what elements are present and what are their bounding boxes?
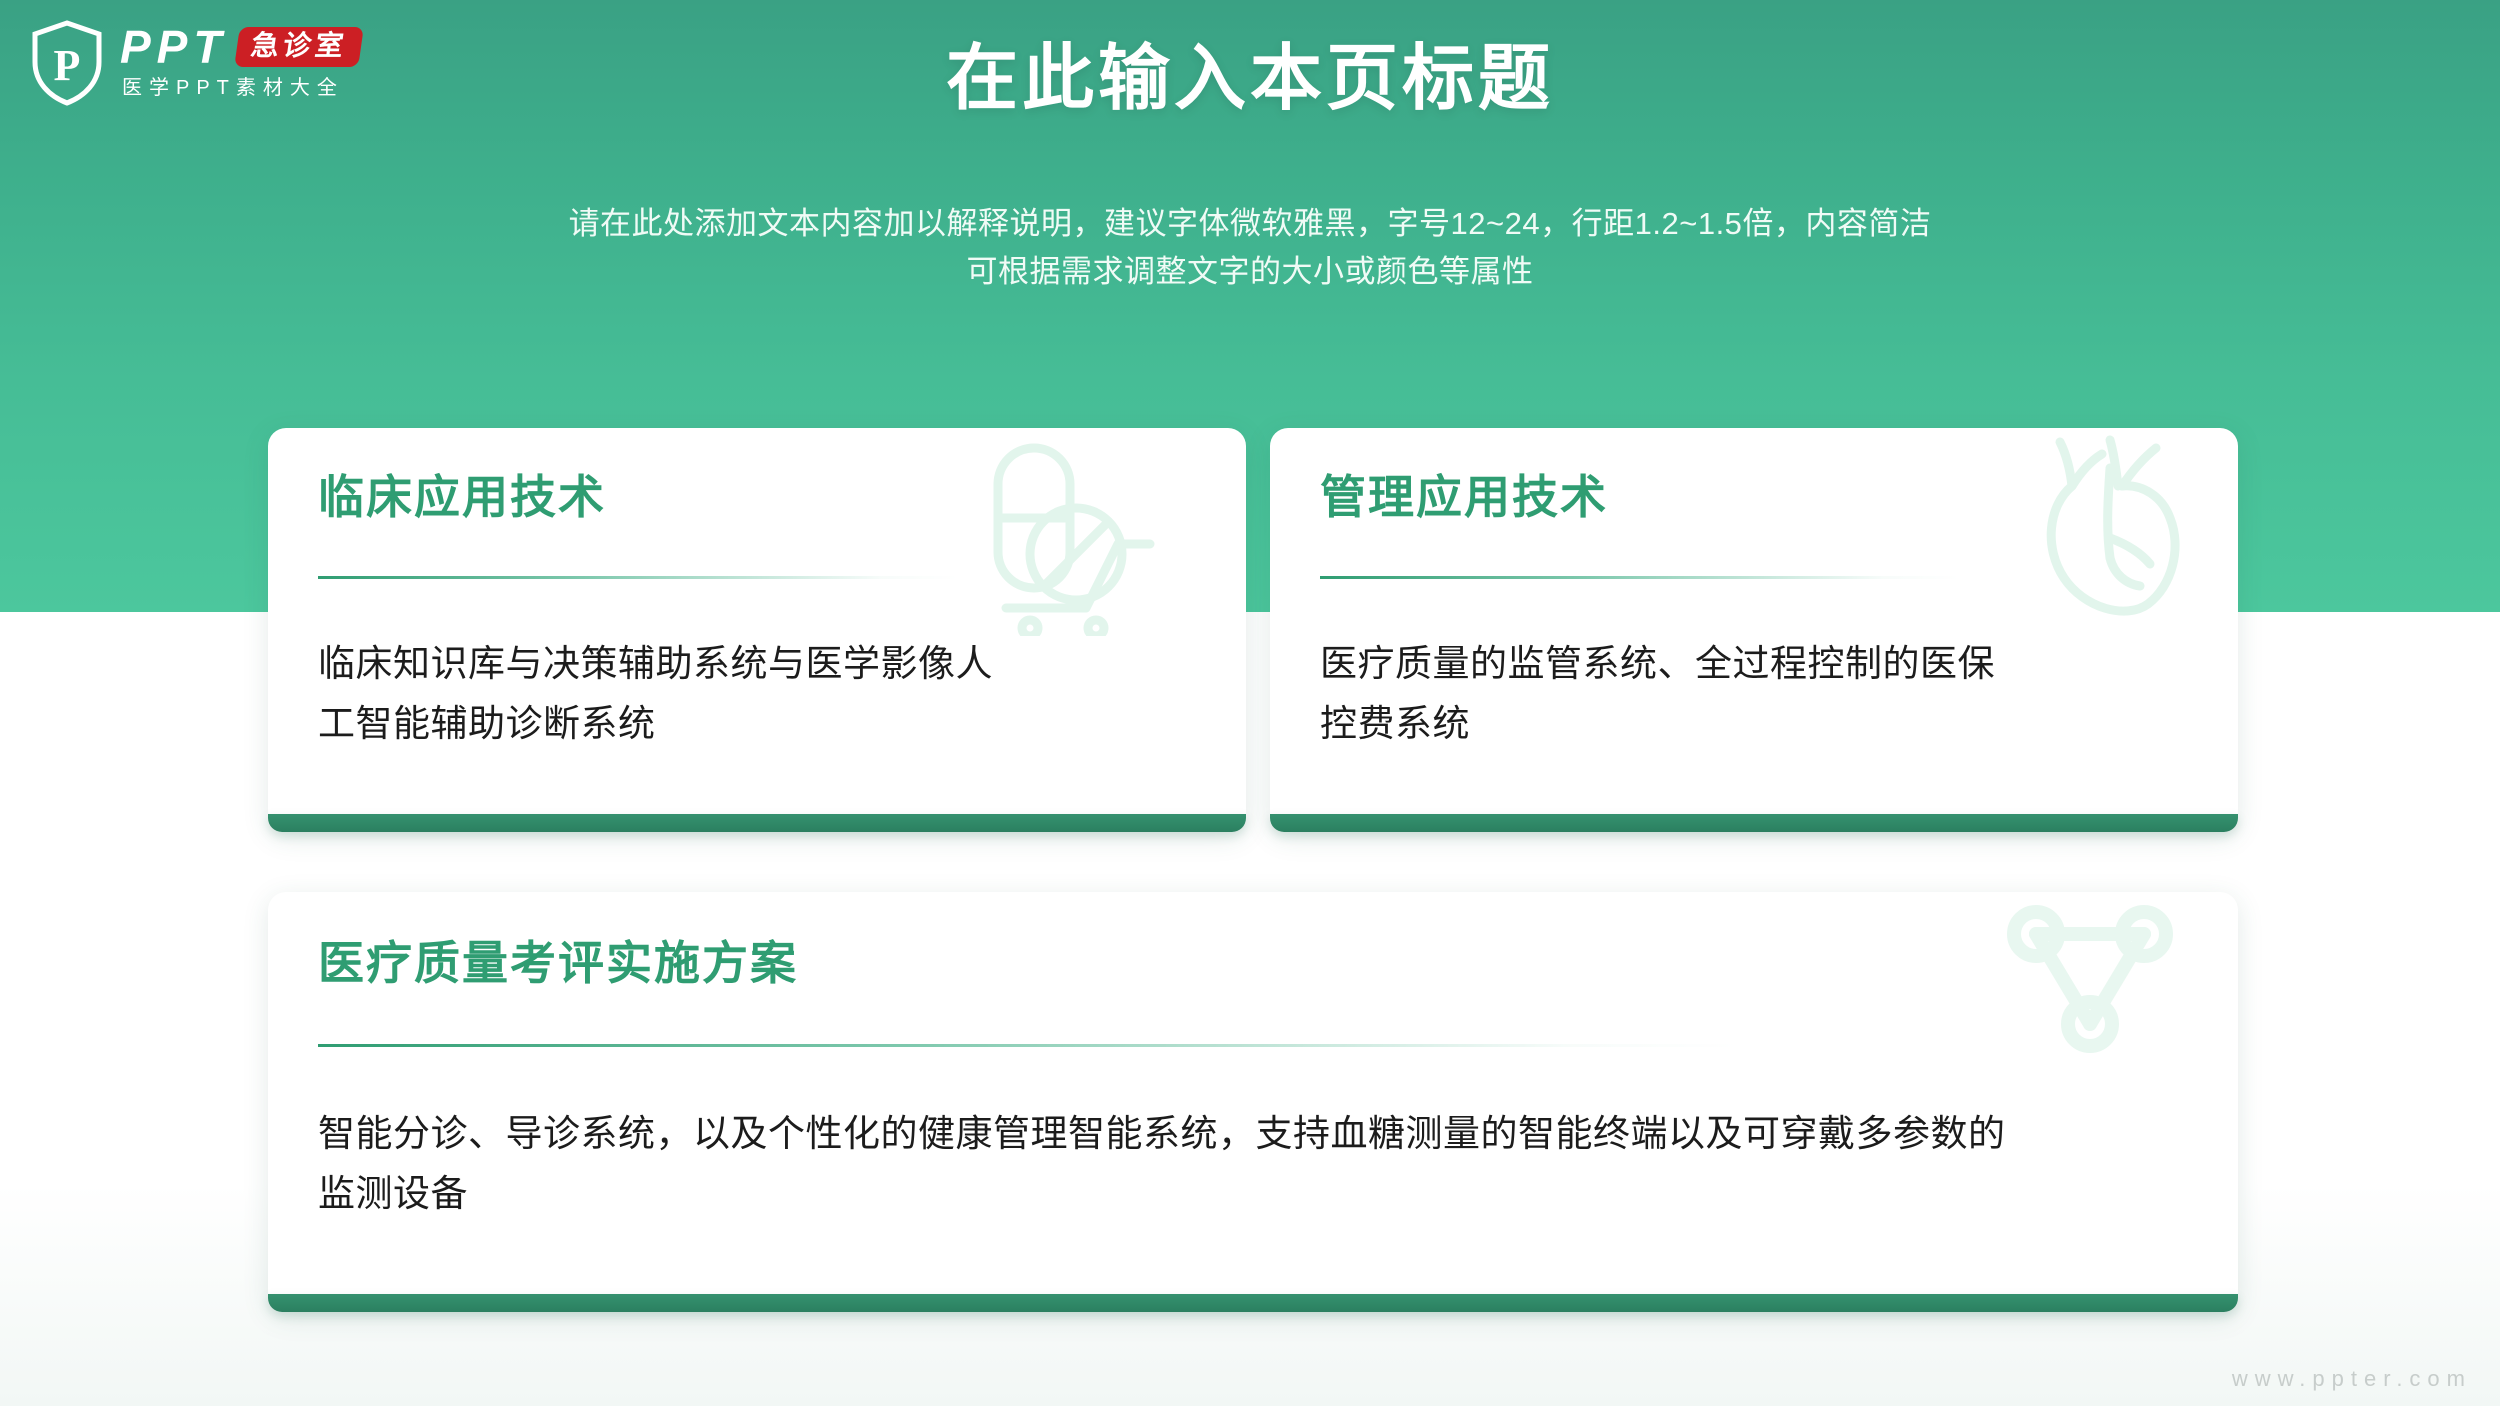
anatomical-heart-icon	[2030, 428, 2220, 628]
slide-root: P PPT 急诊室 医学PPT素材大全 在此输入本页标题 请在此处添加文本内容加…	[0, 0, 2500, 1406]
card-quality-divider	[318, 1044, 1738, 1047]
page-title: 在此输入本页标题	[0, 40, 2500, 119]
card-management-application[interactable]: 管理应用技术 医疗质量的监管系统、全过程控制的医保控费系统	[1270, 428, 2238, 832]
card-management-footer-bar	[1270, 814, 2238, 832]
card-management-body: 医疗质量的监管系统、全过程控制的医保控费系统	[1320, 634, 2020, 754]
card-clinical-application[interactable]: 临床应用技术 临床知识库与决策辅助系统与医学影像人工智能辅助诊断系统	[268, 428, 1246, 832]
card-clinical-body: 临床知识库与决策辅助系统与医学影像人工智能辅助诊断系统	[318, 634, 1018, 754]
pill-cart-icon	[968, 436, 1158, 636]
card-clinical-divider	[318, 576, 958, 579]
card-management-divider	[1320, 576, 1960, 579]
network-nodes-icon	[1984, 884, 2214, 1074]
card-clinical-title: 临床应用技术	[318, 474, 606, 520]
card-management-title: 管理应用技术	[1320, 474, 1608, 520]
card-quality-evaluation[interactable]: 医疗质量考评实施方案 智能分诊、导诊系统，以及个性化的健康管理智能系统，支持血糖…	[268, 892, 2238, 1312]
card-quality-title: 医疗质量考评实施方案	[318, 940, 798, 986]
card-quality-footer-bar	[268, 1294, 2238, 1312]
page-subtitle-line-2: 可根据需求调整文字的大小或颜色等属性	[290, 248, 2210, 296]
page-subtitle-line-1: 请在此处添加文本内容加以解释说明，建议字体微软雅黑，字号12~24，行距1.2~…	[290, 200, 2210, 248]
card-clinical-footer-bar	[268, 814, 1246, 832]
site-watermark: www.ppter.com	[2232, 1368, 2472, 1390]
card-quality-body: 智能分诊、导诊系统，以及个性化的健康管理智能系统，支持血糖测量的智能终端以及可穿…	[318, 1104, 2008, 1224]
page-subtitle: 请在此处添加文本内容加以解释说明，建议字体微软雅黑，字号12~24，行距1.2~…	[290, 200, 2210, 296]
